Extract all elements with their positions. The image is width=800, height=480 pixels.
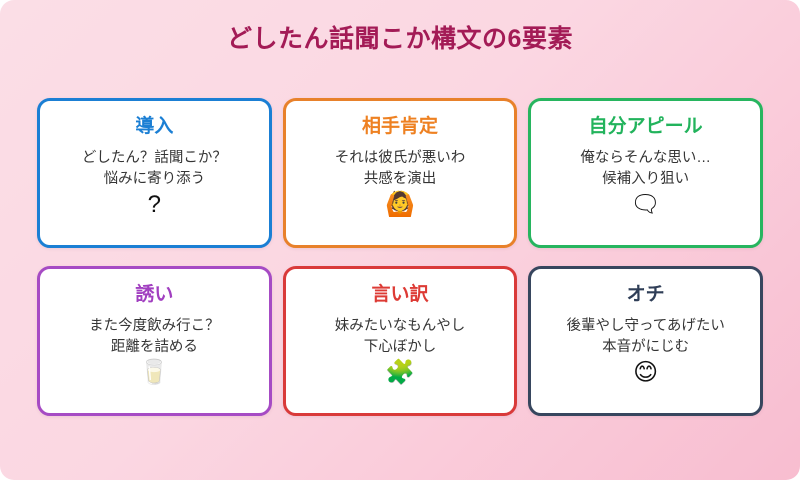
question-mark-icon: ? <box>148 193 161 217</box>
card-body: それは彼氏が悪いわ 共感を演出 <box>335 148 466 190</box>
card-invite[interactable]: 誘い また今度飲み行こ？ 距離を詰める 🥛 <box>37 266 272 416</box>
speech-balloon-icon: 🗨 <box>630 193 660 217</box>
card-body: どしたん？話聞こか？ 悩みに寄り添う <box>82 148 227 190</box>
person-gesturing-ok-icon: 🙆 <box>385 193 415 217</box>
card-body: 後輩やし守ってあげたい 本音がにじむ <box>566 316 724 358</box>
card-title: 自分アピール <box>589 116 703 139</box>
puzzle-piece-icon: 🧩 <box>385 361 415 385</box>
card-intro[interactable]: 導入 どしたん？話聞こか？ 悩みに寄り添う ? <box>37 98 272 248</box>
card-title: 誘い <box>135 284 173 307</box>
card-title: 導入 <box>135 116 173 139</box>
page-title: どしたん話聞こか構文の6要素 <box>0 0 800 54</box>
elements-grid: 導入 どしたん？話聞こか？ 悩みに寄り添う ? 相手肯定 それは彼氏が悪いわ 共… <box>37 98 763 416</box>
card-title: オチ <box>627 284 665 307</box>
card-title: 言い訳 <box>371 284 428 307</box>
card-body: 妹みたいなもんやし 下心ぼかし <box>335 316 466 358</box>
card-title: 相手肯定 <box>362 116 438 139</box>
slide-canvas: どしたん話聞こか構文の6要素 導入 どしたん？話聞こか？ 悩みに寄り添う ? 相… <box>0 0 800 480</box>
card-body: 俺ならそんな思い… 候補入り狙い <box>580 148 711 190</box>
card-appeal[interactable]: 自分アピール 俺ならそんな思い… 候補入り狙い 🗨 <box>528 98 763 248</box>
card-affirm[interactable]: 相手肯定 それは彼氏が悪いわ 共感を演出 🙆 <box>283 98 518 248</box>
smiling-face-icon: 😊 <box>633 361 658 385</box>
glass-of-milk-icon: 🥛 <box>139 361 169 385</box>
card-excuse[interactable]: 言い訳 妹みたいなもんやし 下心ぼかし 🧩 <box>283 266 518 416</box>
card-body: また今度飲み行こ？ 距離を詰める <box>89 316 220 358</box>
card-punch[interactable]: オチ 後輩やし守ってあげたい 本音がにじむ 😊 <box>528 266 763 416</box>
